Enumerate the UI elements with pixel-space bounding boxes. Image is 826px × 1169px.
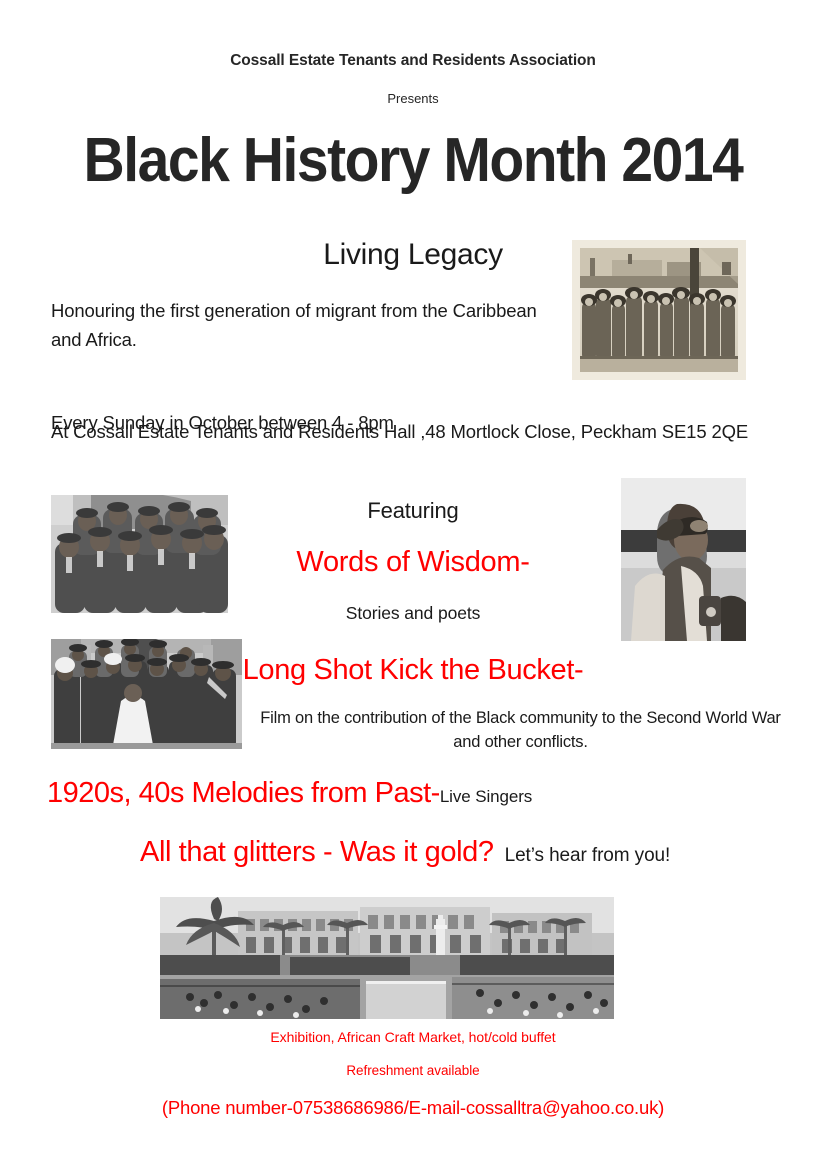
organisation-name: Cossall Estate Tenants and Residents Ass… (0, 52, 826, 70)
program-item-glitters: All that glitters - Was it gold? (140, 836, 494, 868)
program-item-long-shot-desc: Film on the contribution of the Black co… (248, 707, 793, 755)
program-item-melodies: 1920s, 40s Melodies from Past- (47, 777, 440, 809)
raf-pilot-portrait-photo (621, 478, 746, 641)
colonial-era-group-portrait-photo (51, 639, 242, 749)
presents-label: Presents (0, 91, 826, 106)
refreshment-text: Refreshment available (0, 1063, 826, 1078)
exhibition-text: Exhibition, African Craft Market, hot/co… (0, 1029, 826, 1045)
program-item-glitters-desc: Let’s hear from you! (494, 845, 671, 866)
honouring-text: Honouring the first generation of migran… (51, 297, 551, 354)
cenotaph-ceremony-panorama-photo (160, 897, 614, 1019)
program-item-glitters-row: All that glitters - Was it gold?Let’s he… (140, 836, 670, 869)
program-item-melodies-desc: Live Singers (440, 787, 532, 806)
program-item-melodies-row: 1920s, 40s Melodies from Past-Live Singe… (47, 777, 532, 810)
poster-page: Cossall Estate Tenants and Residents Ass… (0, 0, 826, 1169)
windrush-ship-arrival-photo (572, 240, 746, 380)
address-text: At Cossall Estate Tenants and Residents … (51, 418, 796, 447)
women-in-uniform-group-photo (51, 495, 228, 613)
contact-text: (Phone number-07538686986/E-mail-cossall… (0, 1097, 826, 1119)
page-title: Black History Month 2014 (33, 128, 793, 193)
